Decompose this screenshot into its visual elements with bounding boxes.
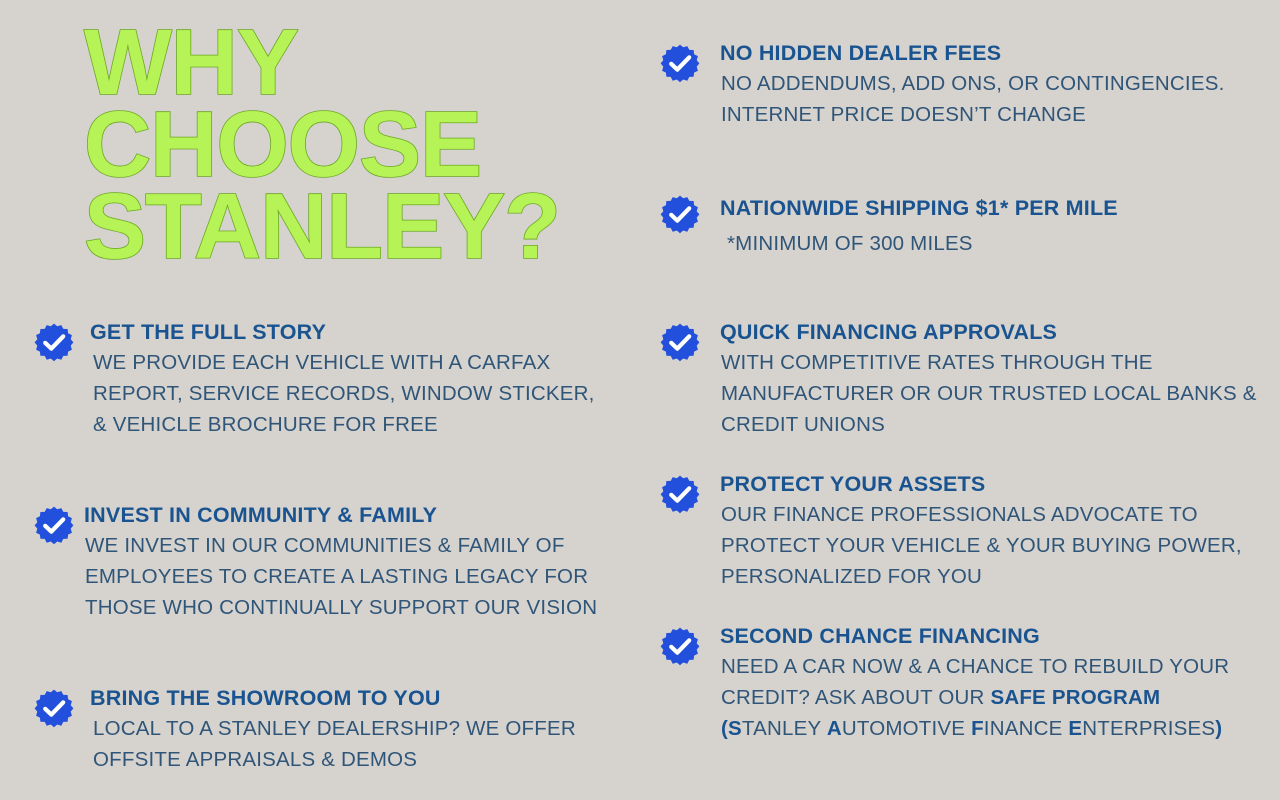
benefit-title: INVEST IN COMMUNITY & FAMILY (84, 503, 612, 528)
benefit-item-quick-financing-approvals: QUICK FINANCING APPROVALS WITH COMPETITI… (658, 320, 1258, 441)
verified-check-badge-icon (32, 505, 76, 549)
benefit-description: WE INVEST IN OUR COMMUNITIES & FAMILY OF… (84, 531, 612, 623)
benefit-title: NO HIDDEN DEALER FEES (720, 41, 1258, 66)
benefit-title: PROTECT YOUR ASSETS (720, 472, 1258, 497)
page-title: WHY CHOOSE STANLEY? (84, 22, 604, 267)
promo-poster: WHY CHOOSE STANLEY? GET THE FULL STORY W… (0, 0, 1280, 800)
benefit-item-invest-in-community-family: INVEST IN COMMUNITY & FAMILY WE INVEST I… (32, 503, 612, 624)
verified-check-badge-icon (658, 194, 702, 238)
benefit-description-rich: NEED A CAR NOW & A CHANCE TO REBUILD YOU… (720, 652, 1258, 744)
benefit-title: NATIONWIDE SHIPPING $1* PER MILE (720, 192, 1258, 225)
benefit-title: GET THE FULL STORY (90, 320, 612, 345)
headline-line-3: STANLEY? (84, 186, 604, 268)
verified-check-badge-icon (658, 43, 702, 87)
benefit-description: LOCAL TO A STANLEY DEALERSHIP? WE OFFER … (90, 714, 612, 776)
benefit-item-bring-the-showroom-to-you: BRING THE SHOWROOM TO YOU LOCAL TO A STA… (32, 686, 612, 776)
benefit-description: OUR FINANCE PROFESSIONALS ADVOCATE TO PR… (720, 500, 1258, 592)
benefit-title: BRING THE SHOWROOM TO YOU (90, 686, 612, 711)
benefit-title: SECOND CHANCE FINANCING (720, 624, 1258, 649)
verified-check-badge-icon (658, 474, 702, 518)
benefit-description: WITH COMPETITIVE RATES THROUGH THE MANUF… (720, 348, 1258, 440)
verified-check-badge-icon (658, 626, 702, 670)
benefit-item-second-chance-financing: SECOND CHANCE FINANCING NEED A CAR NOW &… (658, 624, 1258, 745)
verified-check-badge-icon (658, 322, 702, 366)
benefit-footnote: *MINIMUM OF 300 MILES (720, 229, 1258, 260)
benefit-item-no-hidden-dealer-fees: NO HIDDEN DEALER FEES NO ADDENDUMS, ADD … (658, 41, 1258, 131)
benefit-description: WE PROVIDE EACH VEHICLE WITH A CARFAX RE… (90, 348, 612, 440)
benefit-item-protect-your-assets: PROTECT YOUR ASSETS OUR FINANCE PROFESSI… (658, 472, 1258, 593)
verified-check-badge-icon (32, 322, 76, 366)
benefit-title: QUICK FINANCING APPROVALS (720, 320, 1258, 345)
benefit-item-get-the-full-story: GET THE FULL STORY WE PROVIDE EACH VEHIC… (32, 320, 612, 441)
benefit-item-nationwide-shipping: NATIONWIDE SHIPPING $1* PER MILE *MINIMU… (658, 192, 1258, 260)
verified-check-badge-icon (32, 688, 76, 732)
benefit-description: NO ADDENDUMS, ADD ONS, OR CONTINGENCIES.… (720, 69, 1258, 131)
